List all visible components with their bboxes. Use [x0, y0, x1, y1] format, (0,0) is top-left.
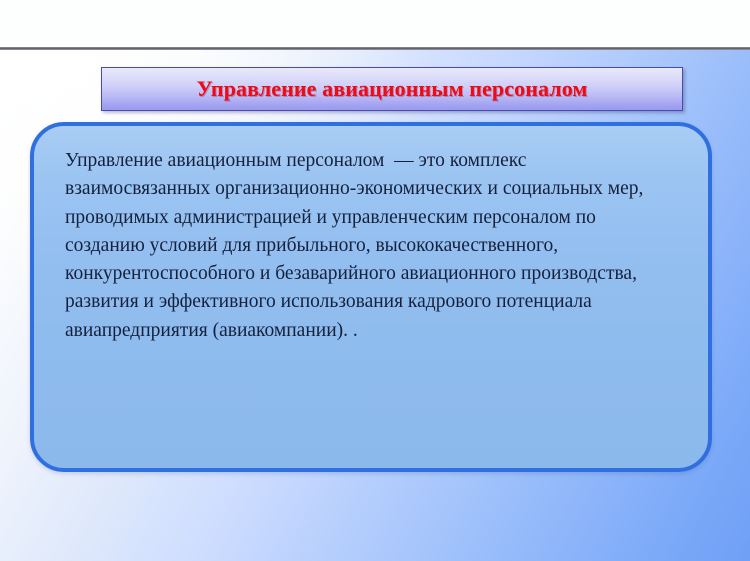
- content-box: Управление авиационным персоналом — это …: [30, 122, 712, 472]
- title-plate: Управление авиационным персоналом: [101, 67, 683, 111]
- slide-title: Управление авиационным персоналом: [196, 78, 587, 100]
- slide: Управление авиационным персоналом Управл…: [0, 0, 750, 561]
- content-paragraph: Управление авиационным персоналом — это …: [65, 147, 675, 345]
- top-white-band: [0, 0, 750, 47]
